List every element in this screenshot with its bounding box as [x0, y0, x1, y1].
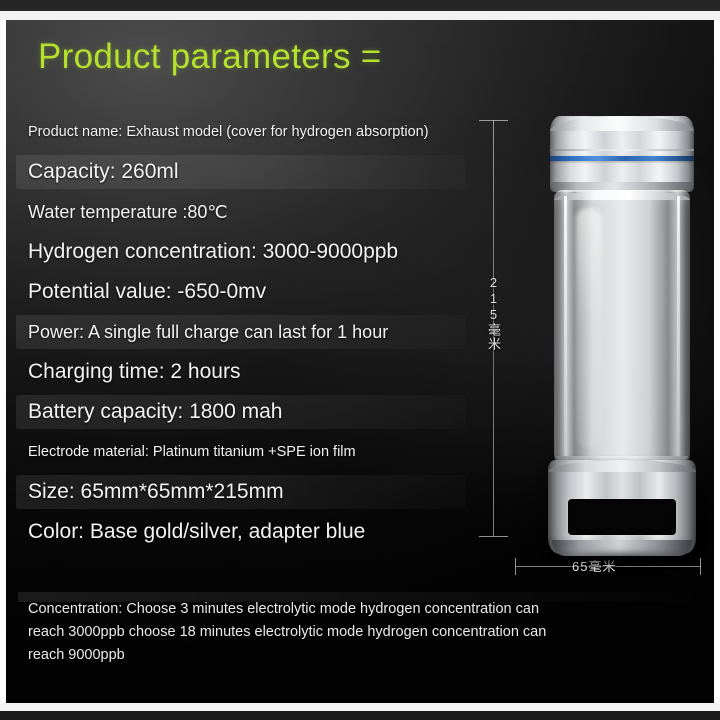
- bottle-drop-shadow: [548, 550, 696, 566]
- spec-text: Capacity: 260ml: [28, 160, 179, 184]
- top-white-separator: [0, 11, 720, 20]
- bottle-glass-inner-wall-right: [677, 196, 680, 462]
- concentration-note: Concentration: Choose 3 minutes electrol…: [28, 598, 548, 667]
- spec-row: Power: A single full charge can last for…: [6, 312, 476, 352]
- spec-row: Color: Base gold/silver, adapter blue: [6, 512, 476, 552]
- bottle-cap-seam: [550, 149, 694, 151]
- spec-row: Hydrogen concentration: 3000-9000ppb: [6, 232, 476, 272]
- spec-row: Battery capacity: 1800 mah: [6, 392, 476, 432]
- spec-text: Electrode material: Platinum titanium +S…: [28, 444, 356, 460]
- height-dimension-tick-bottom: [479, 536, 508, 537]
- spec-row: Capacity: 260ml: [6, 152, 476, 192]
- bottle-glass-inner-wall-left: [564, 196, 567, 462]
- spec-list: Product name: Exhaust model (cover for h…: [6, 112, 476, 552]
- spec-text: Color: Base gold/silver, adapter blue: [28, 520, 365, 544]
- spec-panel: Product parameters = Product name: Exhau…: [6, 20, 714, 703]
- spec-text: Water temperature :80℃: [28, 202, 228, 223]
- spec-text: Power: A single full charge can last for…: [28, 322, 388, 343]
- height-dimension-label: 215毫米: [483, 275, 503, 351]
- spec-row: Size: 65mm*65mm*215mm: [6, 472, 476, 512]
- spec-row: Product name: Exhaust model (cover for h…: [6, 112, 476, 152]
- spec-text: Product name: Exhaust model (cover for h…: [28, 124, 429, 140]
- spec-text: Potential value: -650-0mv: [28, 280, 266, 304]
- width-dimension-tick-right: [700, 558, 701, 575]
- bottle-glass-highlight: [576, 208, 602, 448]
- spec-row: Charging time: 2 hours: [6, 352, 476, 392]
- page-title: Product parameters =: [38, 37, 382, 77]
- product-parameters-image: Product parameters = Product name: Exhau…: [0, 0, 720, 720]
- spec-text: Size: 65mm*65mm*215mm: [28, 480, 284, 504]
- spec-row: Electrode material: Platinum titanium +S…: [6, 432, 476, 472]
- bottom-edge-strip: [0, 711, 720, 720]
- bottle-glass-body: [554, 190, 690, 466]
- top-edge-strip: [0, 0, 720, 11]
- spec-row: Potential value: -650-0mv: [6, 272, 476, 312]
- spec-text: Charging time: 2 hours: [28, 360, 240, 384]
- bottle-cap-blue-ring: [550, 156, 694, 161]
- height-dimension-tick-top: [479, 120, 508, 121]
- spec-row: Water temperature :80℃: [6, 192, 476, 232]
- width-dimension-tick-left: [515, 558, 516, 575]
- spec-text: Battery capacity: 1800 mah: [28, 400, 282, 424]
- spec-text: Hydrogen concentration: 3000-9000ppb: [28, 240, 398, 264]
- bottom-white-separator: [0, 703, 720, 711]
- product-image-hydrogen-water-bottle: [542, 116, 702, 556]
- bottle-base-display-window: [568, 499, 676, 535]
